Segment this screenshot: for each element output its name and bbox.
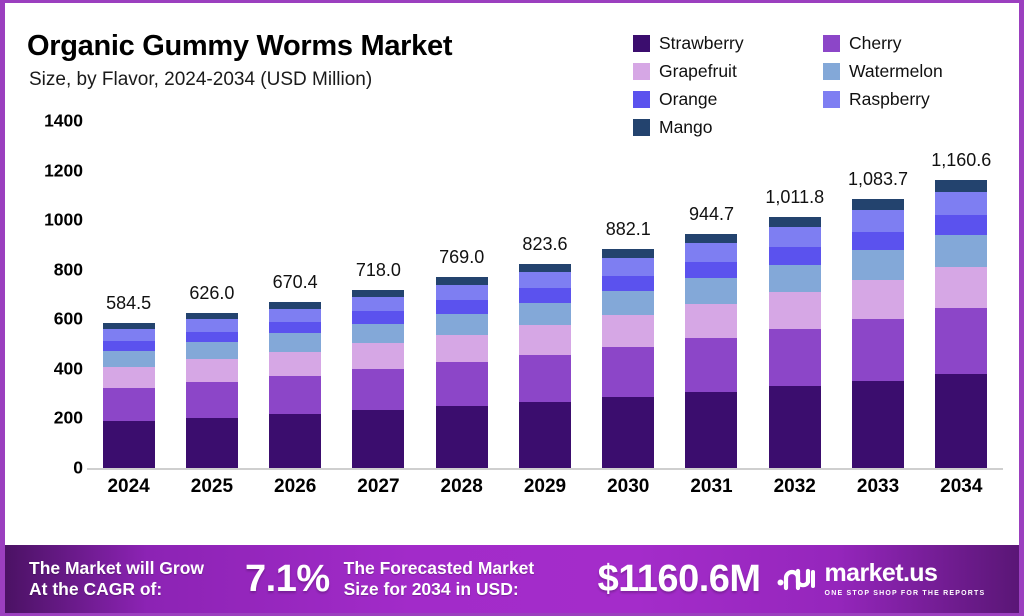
logo-tagline: ONE STOP SHOP FOR THE REPORTS (825, 590, 986, 597)
page-title: Organic Gummy Worms Market (27, 30, 452, 63)
bar-segment-strawberry (769, 386, 821, 468)
bar-total-label: 944.7 (689, 204, 734, 225)
bar-stack (269, 302, 321, 468)
x-axis-tick-2034: 2034 (920, 476, 1003, 510)
bar-total-label: 1,083.7 (848, 169, 908, 190)
bar-segment-cherry (602, 347, 654, 397)
bar-segment-watermelon (602, 291, 654, 315)
bar-segment-cherry (852, 319, 904, 381)
bar-segment-mango (852, 199, 904, 210)
bar-segment-grapefruit (103, 367, 155, 388)
bar-segment-cherry (436, 362, 488, 406)
bar-segment-mango (352, 290, 404, 297)
bar-segment-orange (852, 232, 904, 251)
bar-segment-watermelon (935, 235, 987, 267)
bar-total-label: 718.0 (356, 260, 401, 281)
bar-segment-raspberry (186, 319, 238, 331)
bar-segment-orange (186, 332, 238, 343)
x-axis-tick-2029: 2029 (503, 476, 586, 510)
y-axis-tick: 1400 (9, 111, 83, 132)
legend-label: Orange (659, 89, 717, 110)
bar-segment-orange (602, 276, 654, 291)
bar-segment-raspberry (269, 309, 321, 322)
bar-segment-raspberry (352, 297, 404, 311)
x-axis-tick-2025: 2025 (170, 476, 253, 510)
bar-stack (685, 234, 737, 468)
bar-segment-raspberry (436, 285, 488, 300)
bar-segment-cherry (186, 382, 238, 418)
bar-segment-mango (935, 180, 987, 191)
y-axis-tick: 600 (9, 309, 83, 330)
bar-segment-grapefruit (769, 292, 821, 328)
bar-group: 584.5626.0670.4718.0769.0823.6882.1944.7… (87, 121, 1003, 468)
bar-segment-orange (519, 288, 571, 302)
legend-swatch-orange (633, 91, 650, 108)
forecast-value: $1160.6M (598, 558, 761, 601)
bar-total-label: 823.6 (522, 234, 567, 255)
y-axis-tick: 400 (9, 358, 83, 379)
bar-segment-mango (269, 302, 321, 309)
bar-segment-watermelon (685, 278, 737, 304)
bar-segment-raspberry (769, 227, 821, 247)
bar-column-2029[interactable]: 823.6 (503, 121, 586, 468)
bar-segment-orange (769, 247, 821, 265)
bar-segment-cherry (103, 388, 155, 421)
legend-item-grapefruit[interactable]: Grapefruit (633, 61, 823, 82)
bar-segment-raspberry (103, 329, 155, 341)
bar-total-label: 626.0 (189, 283, 234, 304)
bar-column-2025[interactable]: 626.0 (170, 121, 253, 468)
bar-segment-strawberry (519, 402, 571, 468)
bar-stack (186, 313, 238, 468)
bar-segment-mango (685, 234, 737, 243)
bar-segment-strawberry (352, 410, 404, 468)
legend-label: Watermelon (849, 61, 943, 82)
legend-item-strawberry[interactable]: Strawberry (633, 33, 823, 54)
bar-segment-raspberry (602, 258, 654, 275)
x-axis-tick-2026: 2026 (254, 476, 337, 510)
bar-segment-grapefruit (519, 325, 571, 355)
x-axis-tick-2030: 2030 (587, 476, 670, 510)
bar-segment-watermelon (269, 333, 321, 351)
bar-total-label: 769.0 (439, 247, 484, 268)
bar-total-label: 882.1 (606, 219, 651, 240)
bar-segment-watermelon (103, 351, 155, 367)
bar-segment-cherry (352, 369, 404, 410)
bar-segment-cherry (769, 329, 821, 387)
legend-label: Grapefruit (659, 61, 737, 82)
bar-segment-orange (269, 322, 321, 334)
x-axis-tick-2033: 2033 (837, 476, 920, 510)
legend-label: Raspberry (849, 89, 930, 110)
cagr-value: 7.1% (245, 558, 330, 601)
bar-segment-orange (935, 215, 987, 235)
bar-segment-grapefruit (186, 359, 238, 382)
bar-segment-cherry (269, 376, 321, 414)
bottom-banner: The Market will Grow At the CAGR of: 7.1… (5, 545, 1019, 613)
market-us-monogram-icon (777, 563, 817, 596)
y-axis-tick: 1200 (9, 160, 83, 181)
bar-column-2028[interactable]: 769.0 (420, 121, 503, 468)
bar-total-label: 1,011.8 (765, 187, 824, 208)
bar-segment-raspberry (935, 192, 987, 215)
bar-stack (519, 264, 571, 468)
bar-segment-orange (103, 341, 155, 351)
legend-swatch-watermelon (823, 63, 840, 80)
bar-segment-orange (352, 311, 404, 323)
bar-segment-strawberry (186, 418, 238, 468)
y-axis: 0200400600800100012001400 (5, 121, 83, 473)
bar-column-2034[interactable]: 1,160.6 (920, 121, 1003, 468)
x-axis-tick-2031: 2031 (670, 476, 753, 510)
bar-total-label: 670.4 (273, 272, 318, 293)
bar-segment-grapefruit (436, 335, 488, 363)
bar-segment-grapefruit (269, 352, 321, 376)
x-axis-tick-2032: 2032 (753, 476, 836, 510)
bar-stack (769, 217, 821, 468)
bar-segment-cherry (685, 338, 737, 392)
y-axis-tick: 0 (9, 458, 83, 479)
legend-item-watermelon[interactable]: Watermelon (823, 61, 1013, 82)
bar-segment-raspberry (852, 210, 904, 231)
bar-segment-orange (436, 300, 488, 313)
bar-column-2031[interactable]: 944.7 (670, 121, 753, 468)
bar-segment-grapefruit (352, 343, 404, 369)
legend-swatch-cherry (823, 35, 840, 52)
bar-column-2026[interactable]: 670.4 (254, 121, 337, 468)
bar-segment-strawberry (103, 421, 155, 468)
bar-column-2027[interactable]: 718.0 (337, 121, 420, 468)
bar-column-2032[interactable]: 1,011.8 (753, 121, 836, 468)
bar-stack (935, 180, 987, 468)
bar-stack (352, 290, 404, 468)
bar-segment-cherry (519, 355, 571, 402)
legend-label: Cherry (849, 33, 902, 54)
bar-column-2024[interactable]: 584.5 (87, 121, 170, 468)
bar-segment-strawberry (935, 374, 987, 468)
bar-segment-strawberry (436, 406, 488, 468)
logo-name: market.us (825, 561, 986, 586)
bar-segment-strawberry (602, 397, 654, 468)
bar-segment-strawberry (852, 381, 904, 468)
bar-segment-orange (685, 262, 737, 278)
bar-segment-grapefruit (602, 315, 654, 347)
bar-stack (602, 249, 654, 468)
x-axis-tick-2027: 2027 (337, 476, 420, 510)
bar-segment-watermelon (436, 314, 488, 335)
bar-segment-grapefruit (685, 304, 737, 338)
legend-item-cherry[interactable]: Cherry (823, 33, 1013, 54)
bar-segment-watermelon (186, 342, 238, 359)
bar-segment-strawberry (685, 392, 737, 468)
bar-segment-raspberry (519, 272, 571, 288)
bar-column-2033[interactable]: 1,083.7 (837, 121, 920, 468)
bar-total-label: 1,160.6 (931, 150, 991, 171)
x-axis-tick-2028: 2028 (420, 476, 503, 510)
bar-total-label: 584.5 (106, 293, 151, 314)
bar-segment-grapefruit (852, 280, 904, 319)
bar-stack (852, 199, 904, 468)
page-subtitle: Size, by Flavor, 2024-2034 (USD Million) (29, 69, 372, 91)
bar-segment-watermelon (769, 265, 821, 293)
x-axis-line (87, 468, 1003, 470)
chart-plot-area: 0200400600800100012001400 584.5626.0670.… (5, 121, 1024, 521)
market-us-logo[interactable]: market.us ONE STOP SHOP FOR THE REPORTS (777, 561, 986, 597)
legend-label: Strawberry (659, 33, 744, 54)
bar-segment-mango (519, 264, 571, 272)
legend-swatch-raspberry (823, 91, 840, 108)
bar-segment-mango (436, 277, 488, 285)
legend-item-orange[interactable]: Orange (633, 89, 823, 110)
legend-swatch-strawberry (633, 35, 650, 52)
infographic-root: Organic Gummy Worms Market Size, by Flav… (0, 0, 1024, 616)
bar-segment-strawberry (269, 414, 321, 468)
bar-segment-watermelon (519, 303, 571, 325)
bar-segment-watermelon (852, 250, 904, 280)
bar-segment-grapefruit (935, 267, 987, 309)
bar-stack (436, 277, 488, 468)
bar-segment-raspberry (685, 243, 737, 262)
bar-segment-mango (769, 217, 821, 227)
y-axis-tick: 800 (9, 259, 83, 280)
forecast-caption: The Forecasted Market Size for 2034 in U… (344, 558, 596, 601)
x-axis-tick-2024: 2024 (87, 476, 170, 510)
bar-segment-watermelon (352, 324, 404, 344)
legend-item-raspberry[interactable]: Raspberry (823, 89, 1013, 110)
bar-segment-cherry (935, 308, 987, 374)
legend-swatch-grapefruit (633, 63, 650, 80)
y-axis-tick: 200 (9, 408, 83, 429)
bar-stack (103, 323, 155, 468)
bar-column-2030[interactable]: 882.1 (587, 121, 670, 468)
x-axis: 2024202520262027202820292030203120322033… (87, 476, 1003, 510)
cagr-caption: The Market will Grow At the CAGR of: (29, 558, 241, 601)
bar-segment-mango (602, 249, 654, 258)
y-axis-tick: 1000 (9, 210, 83, 231)
